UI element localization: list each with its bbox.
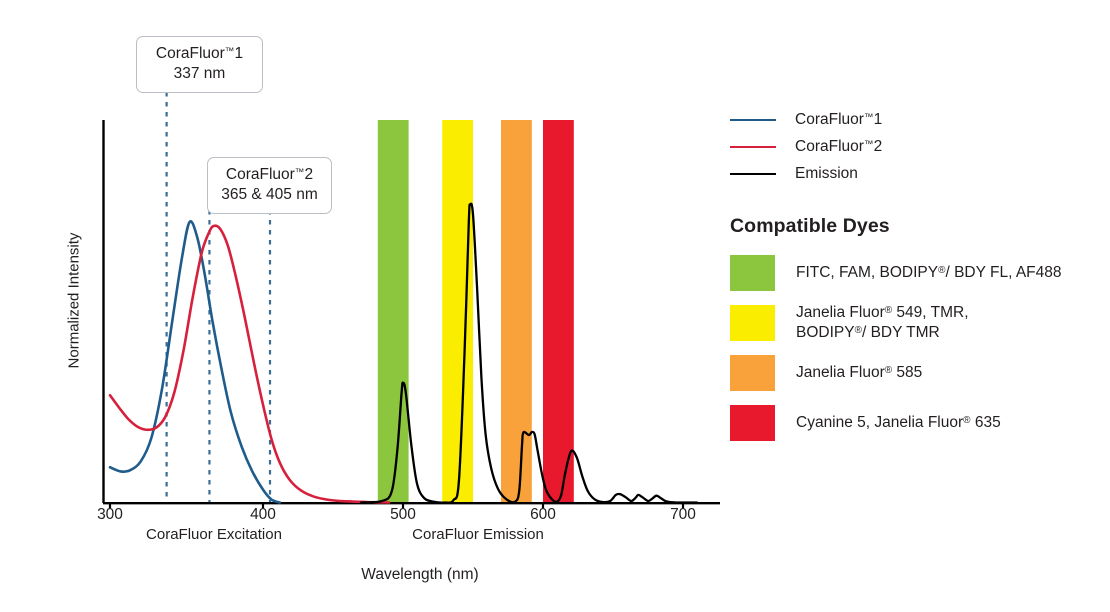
legend-item-label: CoraFluor™1 <box>795 111 882 129</box>
registered-symbol: ® <box>855 325 862 336</box>
x-tick-label-300: 300 <box>80 506 140 524</box>
registered-symbol: ® <box>885 365 892 376</box>
legend-line-icon <box>730 119 776 121</box>
red-band <box>543 120 574 503</box>
right-panel: CoraFluor™1CoraFluor™2Emission Compatibl… <box>730 106 1100 450</box>
axis-label-emission: CoraFluor Emission <box>382 526 574 543</box>
dye-color-swatch <box>730 305 775 341</box>
callout-cf1-line2: 337 nm <box>149 64 250 84</box>
orange-band <box>501 120 532 503</box>
compatible-dyes-list: FITC, FAM, BODIPY®/ BDY FL, AF488Janelia… <box>730 250 1100 446</box>
axis-label-excitation: CoraFluor Excitation <box>118 526 310 543</box>
dye-label-line1: Janelia Fluor® 549, TMR, <box>796 303 969 323</box>
dye-label: FITC, FAM, BODIPY®/ BDY FL, AF488 <box>796 263 1062 283</box>
dye-label: Janelia Fluor® 549, TMR,BODIPY®/ BDY TMR <box>796 303 969 344</box>
legend-item-label: Emission <box>795 165 858 183</box>
trademark-symbol: ™ <box>295 167 305 178</box>
y-axis-title: Normalized Intensity <box>66 201 83 401</box>
dye-row-0: FITC, FAM, BODIPY®/ BDY FL, AF488 <box>730 250 1100 296</box>
dye-label-line1: Cyanine 5, Janelia Fluor® 635 <box>796 413 1001 433</box>
callout-cf1-line1: CoraFluor™1 <box>156 45 243 62</box>
legend-item-label: CoraFluor™2 <box>795 138 882 156</box>
callout-cf2-line1: CoraFluor™2 <box>226 166 313 183</box>
filter-bands-group <box>378 120 574 503</box>
x-tick-label-400: 400 <box>233 506 293 524</box>
excitation-marker-lines <box>167 92 270 503</box>
green-band <box>378 120 409 503</box>
callout-corafluor2: CoraFluor™2 365 & 405 nm <box>207 157 332 214</box>
registered-symbol: ® <box>963 415 970 426</box>
dye-label: Cyanine 5, Janelia Fluor® 635 <box>796 413 1001 433</box>
dye-label: Janelia Fluor® 585 <box>796 363 922 383</box>
yellow-band <box>442 120 473 503</box>
curve-CoraFluor2 <box>110 226 389 503</box>
dye-label-line2: BODIPY®/ BDY TMR <box>796 323 969 343</box>
x-tick-label-700: 700 <box>653 506 713 524</box>
x-tick-label-600: 600 <box>513 506 573 524</box>
dye-color-swatch <box>730 255 775 291</box>
registered-symbol: ® <box>938 265 945 276</box>
legend-line-icon <box>730 173 776 175</box>
legend-item-2: Emission <box>730 160 1100 187</box>
dye-color-swatch <box>730 355 775 391</box>
trademark-symbol: ™ <box>864 112 874 123</box>
x-axis-title: Wavelength (nm) <box>300 566 540 584</box>
dye-row-2: Janelia Fluor® 585 <box>730 350 1100 396</box>
legend-item-0: CoraFluor™1 <box>730 106 1100 133</box>
dye-row-1: Janelia Fluor® 549, TMR,BODIPY®/ BDY TMR <box>730 300 1100 346</box>
callout-cf2-line2: 365 & 405 nm <box>220 185 319 205</box>
legend-line-icon <box>730 146 776 148</box>
registered-symbol: ® <box>885 304 892 315</box>
compatible-dyes-heading: Compatible Dyes <box>730 215 1100 238</box>
trademark-symbol: ™ <box>864 139 874 150</box>
dye-label-line1: FITC, FAM, BODIPY®/ BDY FL, AF488 <box>796 263 1062 283</box>
legend-item-1: CoraFluor™2 <box>730 133 1100 160</box>
dye-row-3: Cyanine 5, Janelia Fluor® 635 <box>730 400 1100 446</box>
x-tick-label-500: 500 <box>373 506 433 524</box>
trademark-symbol: ™ <box>225 46 235 57</box>
legend: CoraFluor™1CoraFluor™2Emission <box>730 106 1100 187</box>
dye-label-line1: Janelia Fluor® 585 <box>796 363 922 383</box>
dye-color-swatch <box>730 405 775 441</box>
callout-corafluor1: CoraFluor™1 337 nm <box>136 36 263 93</box>
